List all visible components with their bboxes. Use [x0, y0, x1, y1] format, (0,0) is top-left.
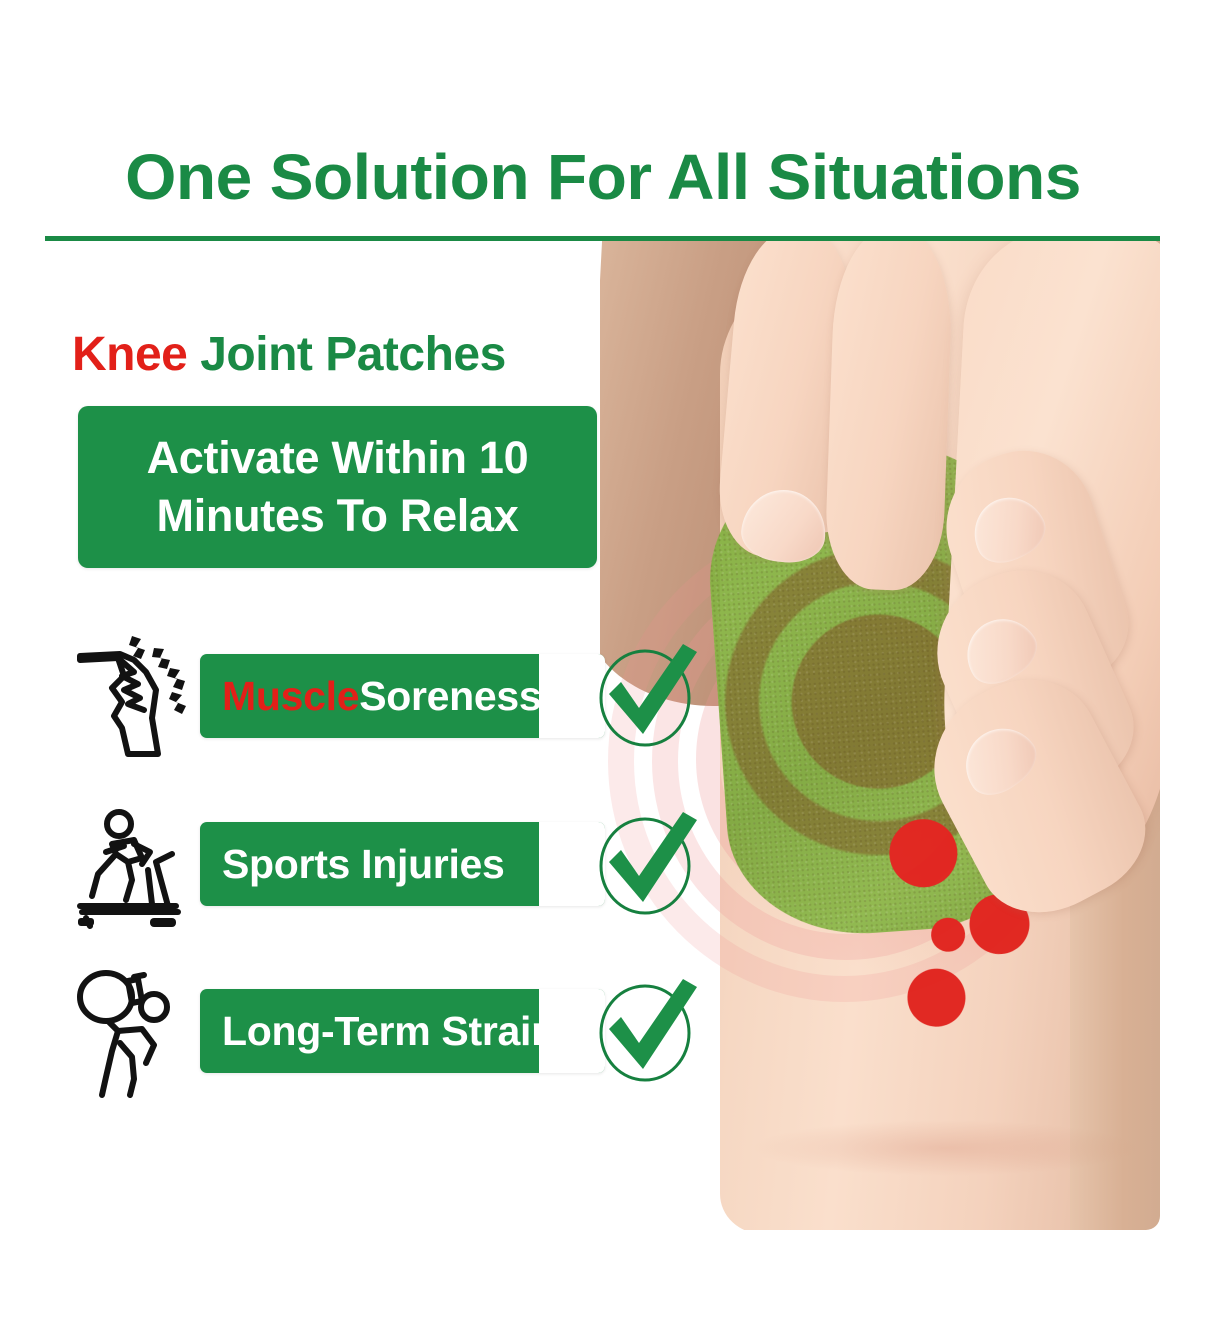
page-title: One Solution For All Situations [0, 140, 1206, 214]
feature-label: Long-Term Strain [222, 989, 556, 1073]
knee-pain-icon [72, 632, 197, 764]
treadmill-runner-icon [72, 800, 197, 932]
feature-bar[interactable]: Muscle Soreness [200, 654, 605, 738]
feature-row: Muscle Soreness [0, 640, 700, 760]
feature-row: Long-Term Strain [0, 975, 700, 1095]
bent-back-load-icon [72, 967, 197, 1099]
feature-label-highlight: Muscle [222, 673, 359, 720]
feature-row: Sports Injuries [0, 808, 700, 928]
feature-label-rest: Long-Term Strain [222, 1008, 556, 1055]
header-divider [45, 236, 1160, 241]
activation-callout: Activate Within 10 Minutes To Relax [78, 406, 597, 568]
shin-crease [750, 1120, 1140, 1176]
activation-line-1: Activate Within 10 [147, 429, 529, 487]
advertisement-canvas: One Solution For All Situations Knee Joi… [0, 0, 1206, 1317]
feature-label-rest: Soreness [359, 673, 541, 720]
product-title-rest: Joint Patches [187, 328, 505, 381]
green-check-icon [595, 977, 699, 1085]
feature-label: Sports Injuries [222, 822, 505, 906]
activation-line-2: Minutes To Relax [157, 487, 519, 545]
feature-bar[interactable]: Long-Term Strain [200, 989, 605, 1073]
feature-label-rest: Sports Injuries [222, 841, 505, 888]
feature-bar[interactable]: Sports Injuries [200, 822, 605, 906]
product-title: Knee Joint Patches [72, 327, 506, 382]
feature-label: Muscle Soreness [222, 654, 541, 738]
middle-finger [824, 240, 955, 592]
green-check-icon [595, 810, 699, 918]
product-title-highlight: Knee [72, 328, 187, 381]
green-check-icon [595, 642, 699, 750]
